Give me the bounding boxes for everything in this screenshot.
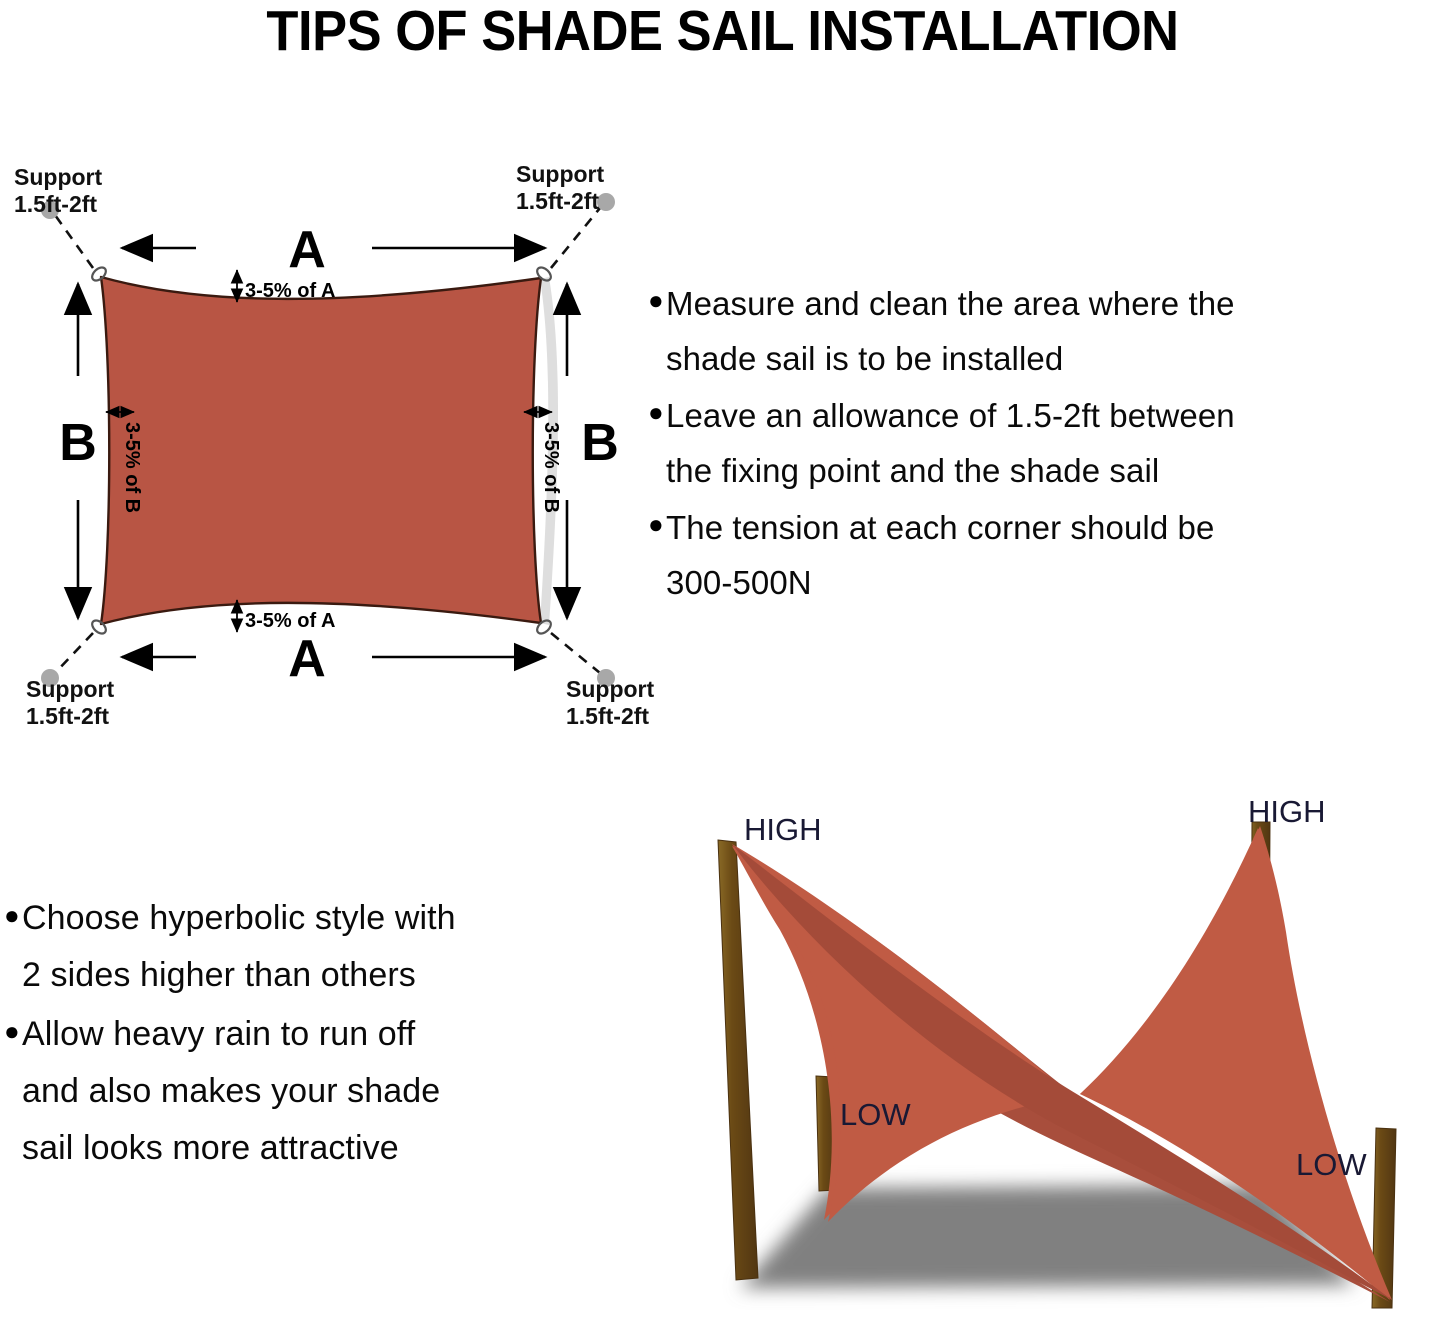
support-label-top-right-line1: Support (516, 161, 604, 187)
list-item: ● Leave an allowance of 1.5-2ft between … (648, 388, 1445, 498)
shade-sail-shape (101, 277, 541, 624)
bullet-dot-icon: ● (4, 1006, 22, 1056)
label-high-right: HIGH (1248, 794, 1326, 829)
page-title: TIPS OF SHADE SAIL INSTALLATION (58, 0, 1387, 62)
sag-a-label-bottom: 3-5% of A (245, 610, 335, 632)
support-line-top-left (55, 215, 93, 268)
dimension-a-label-top: A (288, 221, 326, 279)
bullet-line: Leave an allowance of 1.5-2ft between (666, 388, 1235, 443)
installation-tips-list: ● Measure and clean the area where the s… (648, 276, 1445, 612)
label-low-right: LOW (1296, 1147, 1367, 1182)
bullet-line: sail looks more attractive (22, 1120, 440, 1177)
bullet-line: and also makes your shade (22, 1063, 440, 1120)
bullet-line: the fixing point and the shade sail (666, 443, 1235, 498)
label-low-left: LOW (840, 1097, 911, 1132)
bullet-line: shade sail is to be installed (666, 331, 1235, 386)
list-item: ● Choose hyperbolic style with 2 sides h… (4, 890, 624, 1004)
list-item: ● Allow heavy rain to run off and also m… (4, 1006, 624, 1177)
dimension-a-label-bottom: A (288, 630, 326, 688)
post-high-left (718, 840, 758, 1280)
list-item: ● The tension at each corner should be 3… (648, 500, 1445, 610)
support-line-top-right (551, 208, 600, 268)
support-label-top-left-line2: 1.5ft-2ft (14, 191, 97, 217)
sag-b-label-right: 3-5% of B (540, 422, 562, 513)
support-line-bottom-right (551, 633, 600, 673)
label-high-left: HIGH (744, 812, 822, 847)
bullet-line: The tension at each corner should be (666, 500, 1214, 555)
list-item: ● Measure and clean the area where the s… (648, 276, 1445, 386)
bullet-dot-icon: ● (648, 276, 666, 324)
bullet-line: Allow heavy rain to run off (22, 1006, 440, 1063)
bullet-line: 300-500N (666, 555, 1214, 610)
support-label-bottom-left-line1: Support (26, 676, 114, 702)
bullet-line: Choose hyperbolic style with (22, 890, 456, 947)
rect-sail-diagram: A 3-5% of A A 3-5% of A B 3-5% of B B 3-… (0, 160, 660, 740)
dimension-b-label-left: B (59, 414, 97, 472)
support-label-bottom-right-line1: Support (566, 676, 654, 702)
bullet-line: Measure and clean the area where the (666, 276, 1235, 331)
support-label-top-left-line1: Support (14, 164, 102, 190)
dimension-b-label-right: B (581, 414, 619, 472)
hypar-sail-diagram: HIGH HIGH LOW LOW (648, 780, 1445, 1319)
sag-a-label-top: 3-5% of A (245, 280, 335, 302)
sag-b-label-left: 3-5% of B (121, 422, 143, 513)
bullet-dot-icon: ● (648, 500, 666, 548)
support-label-bottom-left-line2: 1.5ft-2ft (26, 703, 109, 729)
hyperbolic-tips-list: ● Choose hyperbolic style with 2 sides h… (4, 890, 624, 1179)
bullet-line: 2 sides higher than others (22, 947, 456, 1004)
support-dot-top-right (597, 193, 615, 211)
bullet-dot-icon: ● (648, 388, 666, 436)
support-line-bottom-left (55, 633, 93, 673)
support-label-bottom-right-line2: 1.5ft-2ft (566, 703, 649, 729)
support-label-top-right-line2: 1.5ft-2ft (516, 188, 599, 214)
bullet-dot-icon: ● (4, 890, 22, 940)
